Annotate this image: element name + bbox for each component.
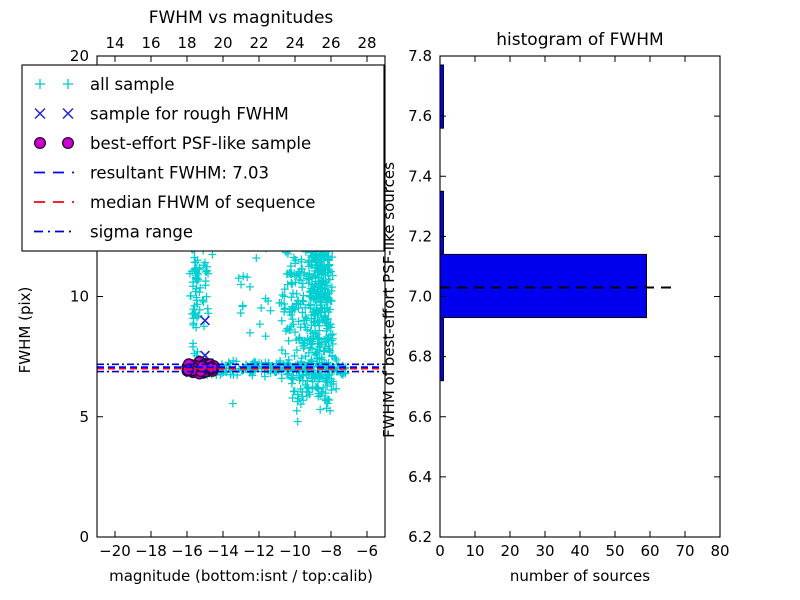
legend-label: resultant FWHM: 7.03	[90, 164, 269, 183]
left-yaxis-label: FWHM (pix)	[16, 287, 34, 374]
legend-circle-marker	[35, 138, 46, 149]
x-tick-label: −18	[135, 542, 167, 560]
y-tick-label: 7.6	[408, 107, 432, 125]
y-tick-label: 5	[79, 408, 89, 426]
x-tick-label: −20	[99, 542, 131, 560]
y-tick-label: 7.2	[408, 227, 432, 245]
x-tick-label: −14	[207, 542, 239, 560]
legend[interactable]: all samplesample for rough FWHMbest-effo…	[22, 65, 384, 251]
y-tick-label: 6.6	[408, 408, 432, 426]
x-tick-label: 60	[640, 542, 659, 560]
x-top-tick-label: 20	[213, 34, 232, 52]
x-top-tick-label: 24	[285, 34, 304, 52]
y-tick-label: 10	[70, 288, 89, 306]
x-tick-label: 40	[570, 542, 589, 560]
x-tick-label: 0	[435, 542, 445, 560]
x-tick-label: −12	[243, 542, 275, 560]
x-top-tick-label: 28	[357, 34, 376, 52]
y-tick-label: 6.2	[408, 528, 432, 546]
legend-label: sigma range	[90, 223, 193, 242]
psf-sample-point	[183, 365, 193, 375]
x-tick-label: 10	[465, 542, 484, 560]
x-tick-label: 80	[710, 542, 729, 560]
y-tick-label: 0	[79, 528, 89, 546]
matplotlib-figure: −20−18−16−14−12−10−8−6141618202224262805…	[0, 0, 800, 600]
x-tick-label: −6	[356, 542, 378, 560]
legend-label: median FHWM of sequence	[90, 193, 315, 212]
x-top-tick-label: 16	[141, 34, 160, 52]
y-tick-label: 7.0	[408, 288, 432, 306]
y-tick-label: 6.4	[408, 468, 432, 486]
right-xaxis-label: number of sources	[510, 567, 650, 585]
x-tick-label: −16	[171, 542, 203, 560]
y-tick-label: 6.8	[408, 348, 432, 366]
y-tick-label: 7.8	[408, 47, 432, 65]
y-tick-label: 20	[70, 47, 89, 65]
legend-label: all sample	[90, 75, 175, 94]
x-top-tick-label: 18	[177, 34, 196, 52]
legend-label: best-effort PSF-like sample	[90, 134, 311, 153]
histogram-bar	[440, 254, 647, 317]
x-tick-label: 70	[675, 542, 694, 560]
x-top-tick-label: 22	[249, 34, 268, 52]
left-plot-title: FWHM vs magnitudes	[149, 8, 334, 28]
x-top-tick-label: 14	[105, 34, 124, 52]
x-top-tick-label: 26	[321, 34, 340, 52]
legend-frame	[22, 65, 384, 251]
x-tick-label: −10	[279, 542, 311, 560]
figure-canvas: −20−18−16−14−12−10−8−6141618202224262805…	[0, 0, 800, 600]
right-plot-title: histogram of FWHM	[496, 30, 663, 50]
y-tick-label: 7.4	[408, 167, 432, 185]
legend-circle-marker	[63, 138, 74, 149]
x-tick-label: 30	[535, 542, 554, 560]
legend-label: sample for rough FWHM	[90, 105, 289, 124]
left-xaxis-label: magnitude (bottom:isnt / top:calib)	[109, 567, 373, 585]
x-tick-label: 50	[605, 542, 624, 560]
x-tick-label: −8	[320, 542, 342, 560]
x-tick-label: 20	[500, 542, 519, 560]
